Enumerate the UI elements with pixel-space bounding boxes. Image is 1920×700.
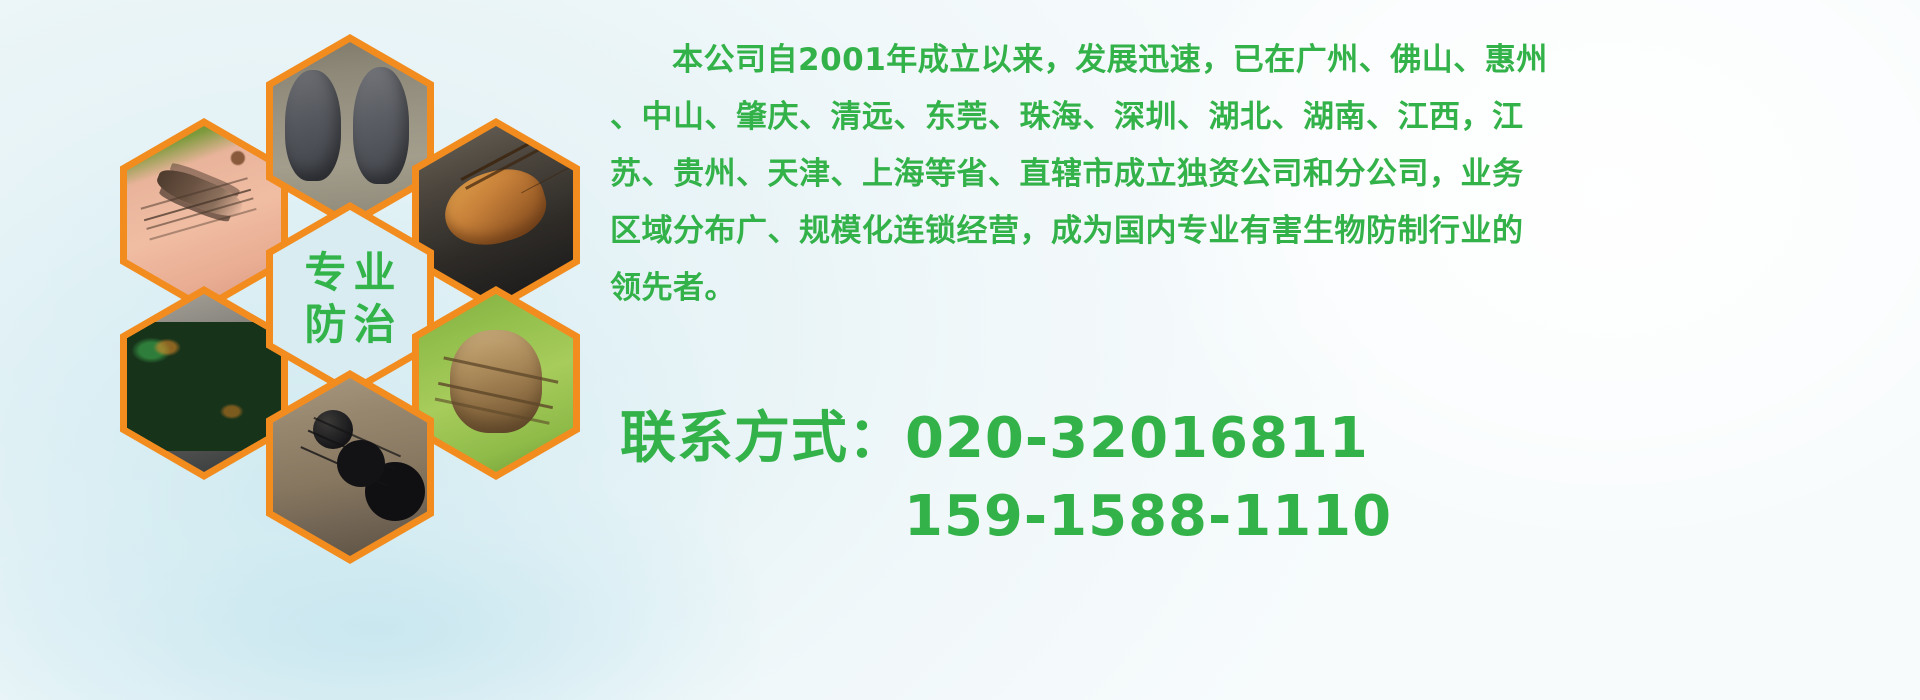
cockroach-icon xyxy=(419,126,573,304)
intro-line-1: 本公司自2001年成立以来，发展迅速，已在广州、佛山、惠州 xyxy=(610,32,1880,89)
center-slogan: 专业 防治 xyxy=(273,210,427,388)
promo-banner: 专业 防治 本公司自2001年成立以来，发展迅速，已在广州、佛山、惠州 、中山、… xyxy=(0,0,1920,700)
honeycomb-collage: 专业 防治 xyxy=(86,8,586,568)
intro-line-2: 、中山、肇庆、清远、东莞、珠海、深圳、湖北、湖南、江西，江 xyxy=(610,89,1880,146)
intro-line-1-text: 本公司自2001年成立以来，发展迅速，已在广州、佛山、惠州 xyxy=(672,42,1548,78)
intro-paragraph: 本公司自2001年成立以来，发展迅速，已在广州、佛山、惠州 、中山、肇庆、清远、… xyxy=(610,32,1880,317)
rat-icon xyxy=(273,42,427,220)
contact-phone-landline[interactable]: 联系方式：020-32016811 xyxy=(620,400,1890,478)
cockroach-photo xyxy=(419,126,573,304)
rats-photo xyxy=(273,42,427,220)
hex-cell-mosquito xyxy=(120,118,288,312)
stinkbug-icon xyxy=(419,294,573,472)
slogan-line-1: 专业 xyxy=(297,251,402,295)
hex-cell-ant xyxy=(266,370,434,564)
center-label-panel: 专业 防治 xyxy=(273,210,427,388)
hex-cell-flies xyxy=(120,286,288,480)
intro-line-3: 苏、贵州、天津、上海等省、直辖市成立独资公司和分公司，业务 xyxy=(610,146,1880,203)
flies-photo xyxy=(127,294,281,472)
slogan-line-2: 防治 xyxy=(297,303,402,347)
mosquito-icon xyxy=(127,126,281,304)
ant-icon xyxy=(273,378,427,556)
mosquito-photo xyxy=(127,126,281,304)
intro-line-5: 领先者。 xyxy=(610,260,1880,317)
contact-block: 联系方式：020-32016811 159-1588-1110 xyxy=(620,400,1890,556)
hex-cell-cockroach xyxy=(412,118,580,312)
hex-cell-rat xyxy=(266,34,434,228)
hex-cell-center-label: 专业 防治 xyxy=(266,202,434,396)
hex-cell-stinkbug xyxy=(412,286,580,480)
fly-icon xyxy=(127,294,281,472)
stinkbug-photo xyxy=(419,294,573,472)
contact-phone-mobile[interactable]: 159-1588-1110 xyxy=(620,478,1890,556)
intro-line-4: 区域分布广、规模化连锁经营，成为国内专业有害生物防制行业的 xyxy=(610,203,1880,260)
ant-photo xyxy=(273,378,427,556)
